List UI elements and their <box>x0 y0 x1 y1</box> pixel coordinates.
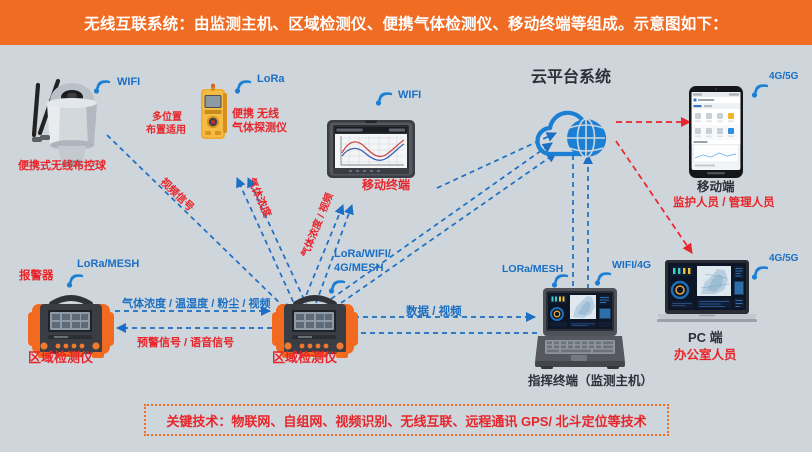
gas-detector-wifi-tag: LoRa <box>257 73 285 87</box>
wifi-icon <box>233 76 255 94</box>
area-detector-left-label: 区域检测仪 <box>28 350 93 366</box>
pc-client-label: PC 端 <box>688 330 723 346</box>
key-technologies-text: 关键技术：物联网、自组网、视频识别、无线互联、远程通讯 GPS/ 北斗定位等技术 <box>166 411 646 430</box>
gas-detector-label-line1: 便携 无线 <box>232 108 279 122</box>
edge-label-lora-mesh-right: LORa/MESH <box>502 263 563 276</box>
cloud-platform-label: 云平台系统 <box>531 68 611 88</box>
edge-label-metrics-up: 气体浓度 / 温湿度 / 粉尘 / 视频 <box>122 298 271 312</box>
mobile-client-sub-label: 监护人员 / 管理人员 <box>673 196 775 210</box>
edge-label-alarm-down: 预警信号 / 语音信号 <box>137 337 234 351</box>
portable-gas-detector-device <box>199 83 229 141</box>
wifi-icon <box>92 76 114 94</box>
mobile-client-label: 移动端 <box>697 180 735 196</box>
mobile-client-device <box>689 86 743 178</box>
ptz-camera-label: 便携式无线布控球 <box>18 160 106 174</box>
mobile-terminal-label: 移动终端 <box>362 178 410 193</box>
edge-label-lora-line2: 4G/MESH <box>334 262 384 276</box>
command-terminal-label: 指挥终端（监测主机） <box>528 374 653 390</box>
mobile-client-wifi-tag: 4G/5G <box>769 71 798 84</box>
wifi-icon <box>327 276 349 294</box>
alarm-device-label: 报警器 <box>19 269 54 283</box>
alarm-detector-wifi-tag: LoRa/MESH <box>77 258 139 272</box>
command-terminal-device <box>535 288 625 370</box>
edge-label-data-video: 数据 / 视频 <box>406 305 462 319</box>
gas-detector-note-line1: 多位置 <box>152 112 182 125</box>
gas-detector-note-line2: 布置适用 <box>146 125 186 138</box>
pc-client-device <box>655 260 759 326</box>
area-detector-center-label: 区域检测仪 <box>272 350 337 366</box>
mobile-terminal-device <box>327 120 415 178</box>
edge-label-lora-line1: LoRa/WIFI/ <box>334 248 391 262</box>
pc-client-sub-label: 办公室人员 <box>674 348 737 364</box>
wifi-icon <box>65 270 87 288</box>
ptz-camera-wifi-tag: WIFI <box>117 76 140 90</box>
pc-client-wifi-tag: 4G/5G <box>769 253 798 266</box>
mobile-terminal-wifi-tag: WIFI <box>398 89 421 103</box>
page-header: 无线互联系统：由监测主机、区域检测仪、便携气体检测仪、移动终端等组成。示意图如下… <box>0 0 812 45</box>
gas-detector-label-line2: 气体探测仪 <box>232 122 287 136</box>
wifi-icon <box>374 88 396 106</box>
page-title: 无线互联系统：由监测主机、区域检测仪、便携气体检测仪、移动终端等组成。示意图如下… <box>84 12 728 34</box>
cloud-platform-icon <box>525 98 621 166</box>
edge-label-wifi-4g: WIFI/4G <box>612 259 651 272</box>
diagram-root: 无线互联系统：由监测主机、区域检测仪、便携气体检测仪、移动终端等组成。示意图如下… <box>0 0 812 452</box>
key-technologies-banner: 关键技术：物联网、自组网、视频识别、无线互联、远程通讯 GPS/ 北斗定位等技术 <box>144 404 669 436</box>
